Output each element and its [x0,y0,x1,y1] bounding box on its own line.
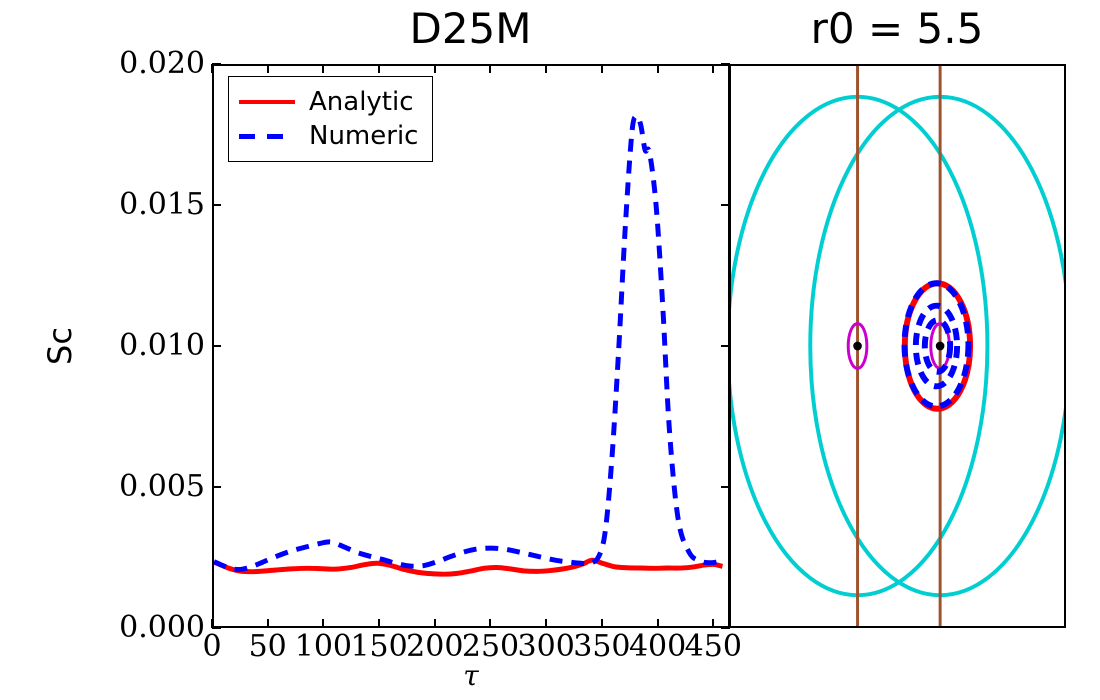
x-tick-bottom [434,619,436,628]
x-tick-label: 150 [350,632,407,662]
x-tick-label: 450 [685,632,742,662]
x-tick-label: 200 [406,632,463,662]
x-tick-label: 100 [295,632,352,662]
x-tick-bottom [601,619,603,628]
x-tick-label: 400 [629,632,686,662]
y-tick-label: 0.015 [119,190,205,220]
x-tick-top [489,64,491,73]
y-tick-left [212,345,221,347]
y-tick-label: 0.005 [119,472,205,502]
x-tick-top [601,64,603,73]
x-tick-bottom [657,619,659,628]
series-line-analytic [214,560,722,574]
series-line-numeric [214,116,720,569]
x-tick-label: 50 [249,632,287,662]
x-tick-bottom [489,619,491,628]
y-tick-label: 0.000 [119,613,205,643]
x-tick-label: 350 [573,632,630,662]
x-tick-top [712,64,714,73]
x-tick-top [378,64,380,73]
y-tick-label: 0.020 [119,49,205,79]
right-panel-title: r0 = 5.5 [729,8,1065,50]
x-tick-label: 300 [518,632,575,662]
y-tick-label: 0.010 [119,331,205,361]
y-tick-left [212,63,221,65]
y-tick-left [212,486,221,488]
line-dashed-icon [239,134,295,139]
x-tick-top [322,64,324,73]
right-plot-axes [729,64,1066,628]
figure-canvas: D25M r0 = 5.5 05010015020025030035040045… [0,0,1100,700]
x-tick-top [434,64,436,73]
x-tick-top [545,64,547,73]
legend-entry-analytic: Analytic [239,85,418,119]
left-panel-title: D25M [212,8,729,50]
y-tick-labels: 0.0000.0050.0100.0150.020 [0,0,206,700]
x-tick-top [211,64,213,73]
legend-entry-numeric: Numeric [239,119,418,153]
line-solid-icon [239,100,295,104]
legend-box: Analytic Numeric [228,76,433,162]
marker-dot-left [853,342,862,351]
y-tick-left [212,204,221,206]
legend-label-numeric: Numeric [309,123,418,149]
x-tick-bottom [378,619,380,628]
x-tick-top [267,64,269,73]
x-tick-bottom [712,619,714,628]
marker-dot-right [936,342,945,351]
x-tick-top [657,64,659,73]
x-tick-bottom [545,619,547,628]
right-plot-canvas [731,66,1064,626]
x-tick-bottom [322,619,324,628]
y-axis-label: Sc [44,327,76,365]
x-tick-bottom [267,619,269,628]
x-tick-label: 250 [462,632,519,662]
legend-label-analytic: Analytic [309,89,414,115]
x-axis-label: τ [212,662,730,690]
